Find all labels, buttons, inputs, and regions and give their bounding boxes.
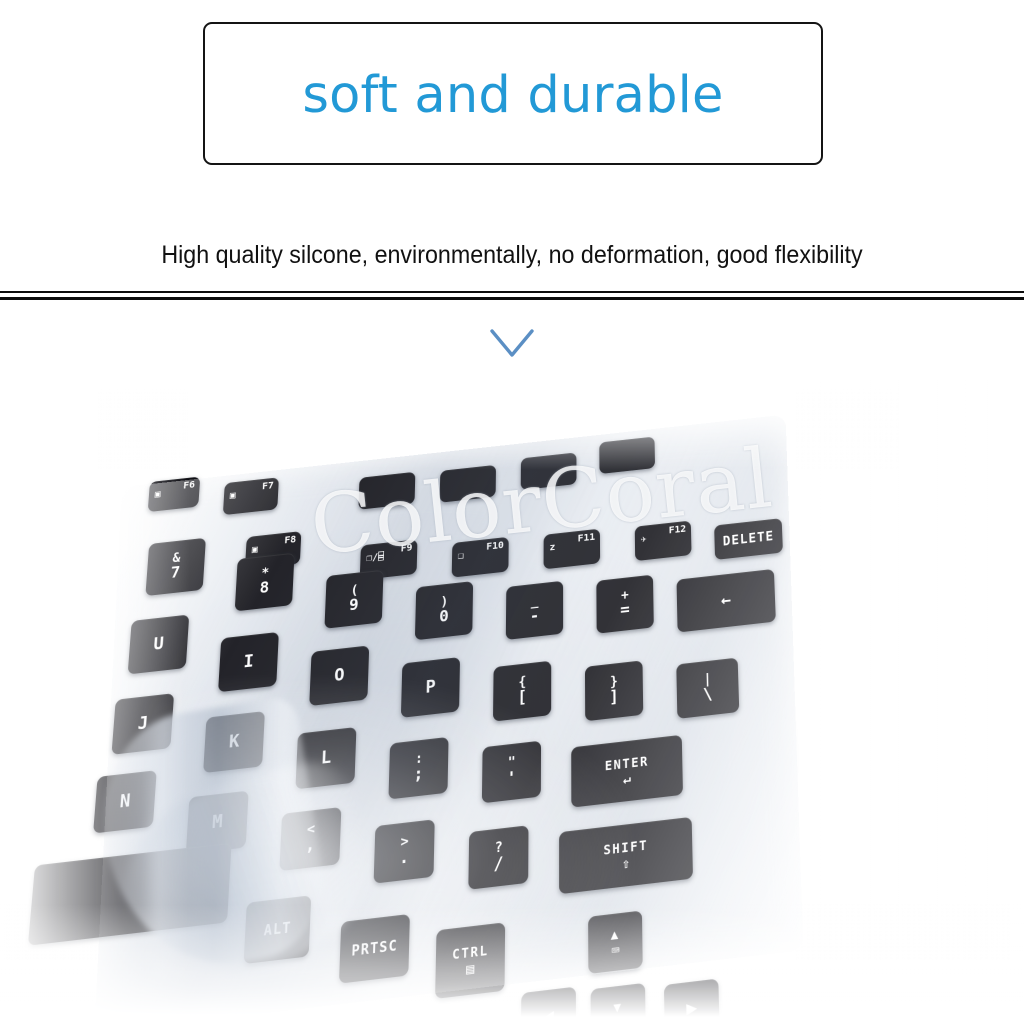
key-p: P [401,657,460,718]
key-arrow-left-label: ◀ [543,1007,554,1024]
key-bracket-right-label: }] [609,675,619,707]
photo-fade-right [794,380,1024,1024]
key-0-label: )0 [439,595,449,626]
key-8: *8 [235,553,295,612]
key-minus-label: _- [530,595,540,626]
key-quote: "' [482,741,541,804]
product-info-page: soft and durable High quality silcone, e… [0,0,1024,1024]
key-blank-2 [440,465,496,503]
key-f8-glyph-icon: ▣ [252,544,258,555]
key-minus: _- [506,581,563,640]
key-f7-label: F7 [262,481,274,493]
key-f12-label: F12 [669,524,687,536]
key-f10-glyph-icon: ❑ [458,550,464,561]
key-shift-label: SHIFT⇧ [603,837,648,873]
headline-banner: soft and durable [203,22,823,165]
divider-line-bottom [0,297,1024,300]
key-slash-label: ?/ [493,841,503,875]
chevron-down-icon [489,327,535,359]
key-f6: ▣F6 [148,477,201,513]
key-f6-label: F6 [183,480,195,492]
key-arrow-left: ◀ [521,987,576,1024]
key-9-label: (9 [349,584,360,615]
key-backspace-label: ← [721,592,732,610]
key-slash: ?/ [468,825,528,890]
key-f7-glyph-icon: ▣ [229,490,235,501]
key-enter-label: ENTER↵ [605,753,649,788]
key-delete: DELETE [714,518,783,560]
key-p-label: P [425,678,436,696]
key-period: >. [374,819,435,883]
key-arrow-right: ▶ [664,979,720,1024]
key-f8-label: F8 [284,534,296,546]
key-f11-label: F11 [578,532,596,544]
key-arrow-down: ▼⌨ [591,983,646,1024]
key-u: U [128,615,190,675]
key-0: )0 [415,581,473,640]
key-bracket-left: {[ [493,661,551,722]
key-quote-label: "' [507,756,517,789]
key-8-label: *8 [259,567,270,598]
key-f11-glyph-icon: z [549,542,555,553]
key-f9-label: F9 [400,543,412,555]
key-9: (9 [324,570,383,629]
key-arrow-right-label: ▶ [686,998,697,1018]
key-enter: ENTER↵ [571,735,683,808]
key-f7: ▣F7 [223,477,279,515]
key-f10-label: F10 [486,540,504,552]
key-delete-label: DELETE [723,530,775,548]
key-blank-1 [358,472,415,510]
key-backslash-label: |\ [702,672,712,704]
key-f12-glyph-icon: ✈ [641,534,647,545]
key-blank-3 [521,452,577,490]
key-bracket-left-label: {[ [517,675,527,707]
key-i: I [218,632,279,692]
key-arrow-up: ▲⌨ [588,911,643,974]
key-ctrl: CTRL▤ [435,922,505,999]
headline-text: soft and durable [205,70,821,121]
key-i-label: I [243,653,254,671]
key-arrow-down-label: ▼⌨ [613,998,623,1024]
key-ctrl-label: CTRL▤ [452,942,489,978]
key-equal-label: += [620,589,630,620]
key-f12: ✈F12 [635,521,692,562]
key-semicolon-label: :; [413,752,424,785]
key-u-label: U [153,635,164,653]
key-bracket-right: }] [585,660,643,721]
key-blank-4 [599,437,655,475]
key-period-label: >. [399,835,410,869]
key-7-label: &7 [170,552,181,582]
key-arrow-up-label: ▲⌨ [611,926,620,959]
key-f10: ❑F10 [452,537,509,578]
product-photo: ▣F6▣F7▣F8❐/⌸F9❑F10zF11✈F12DELETE&7*8(9)0… [0,380,1024,1024]
key-f9-glyph-icon: ❐/⌸ [366,551,384,564]
feature-subtitle: High quality silcone, environmentally, n… [36,240,988,270]
key-7: &7 [145,538,206,596]
key-f11: zF11 [544,529,601,570]
key-shift: SHIFT⇧ [559,817,693,894]
key-f6-glyph-icon: ▣ [154,489,161,500]
divider-line-top [0,291,1024,293]
key-semicolon: :; [388,737,448,800]
key-o-label: O [334,666,345,684]
key-prtsc: PRTSC [339,914,410,984]
key-equal: += [596,575,653,634]
key-backspace: ← [677,569,776,633]
key-o: O [309,645,369,706]
key-backslash: |\ [676,658,739,719]
key-prtsc-label: PRTSC [351,939,398,959]
